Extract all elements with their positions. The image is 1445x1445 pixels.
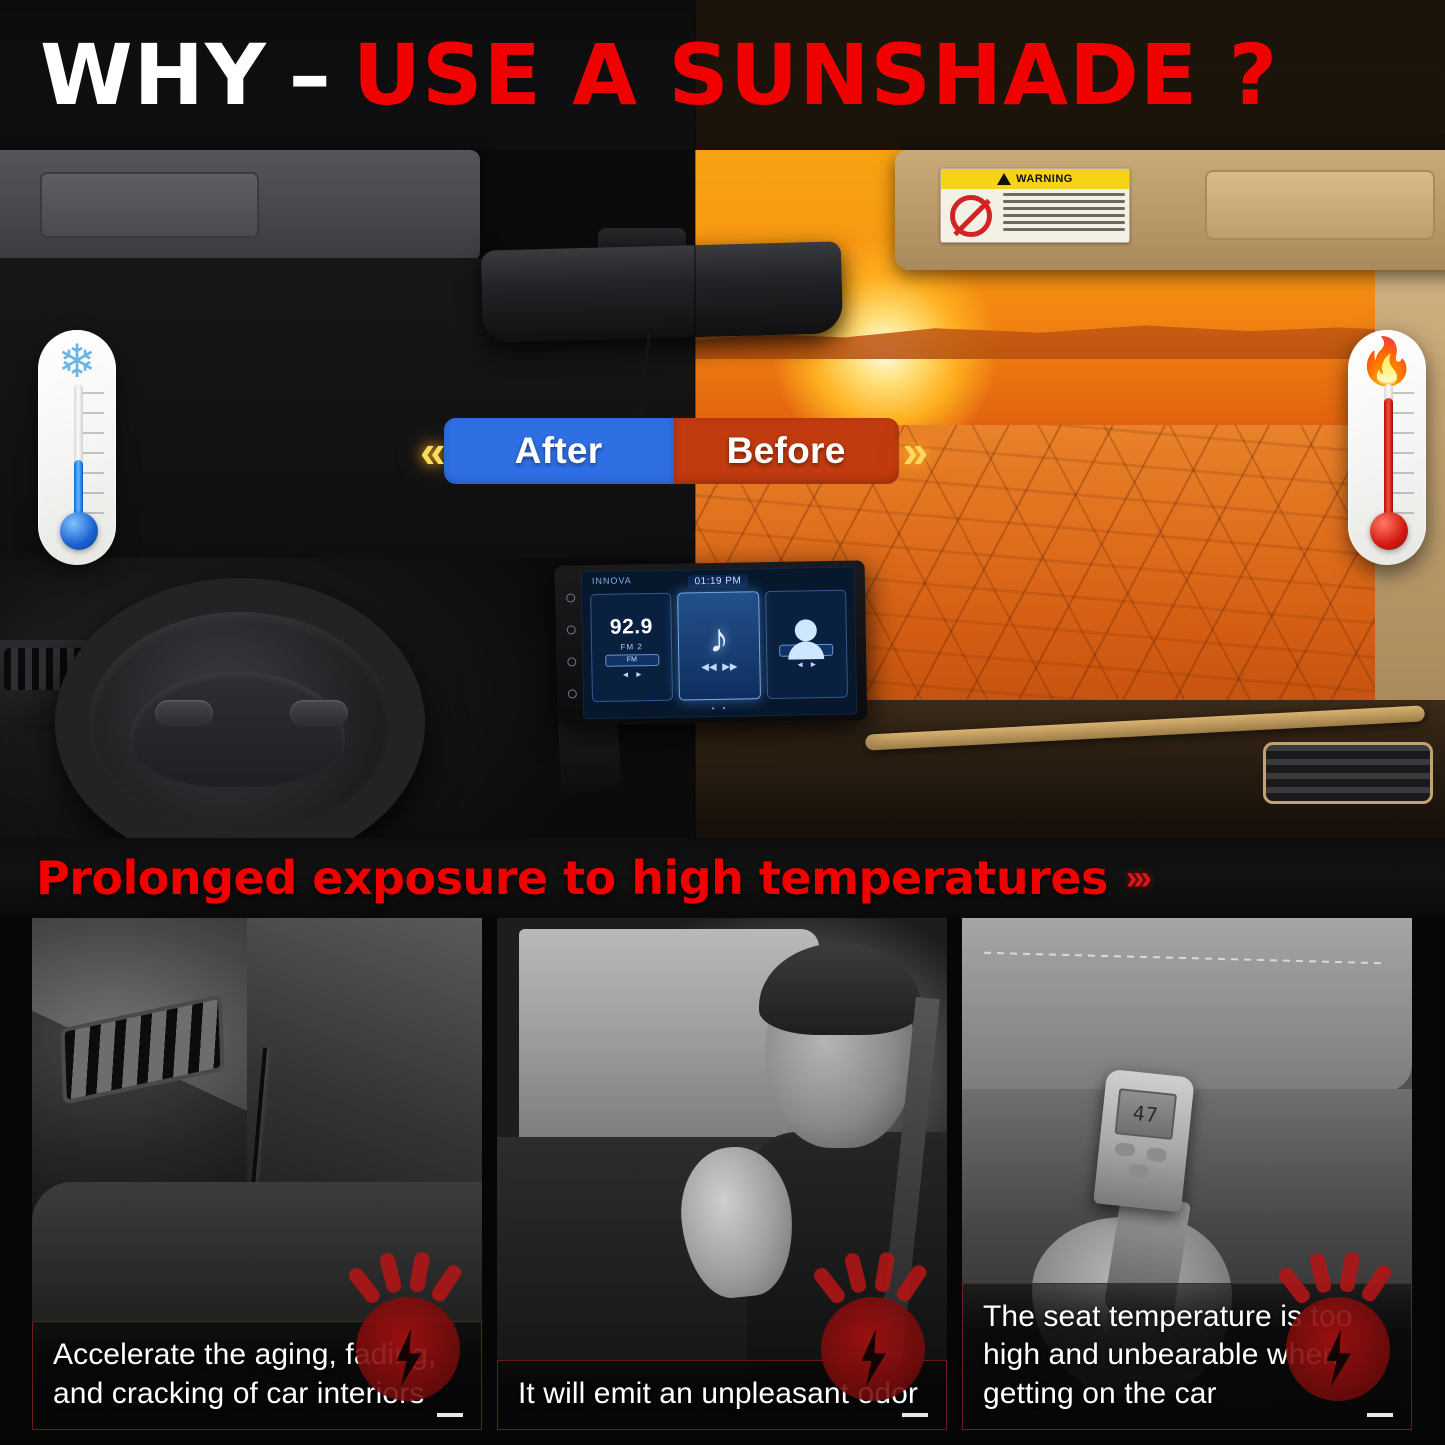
headline-banner: WHY – USE A SUNSHADE ? [0, 0, 1445, 150]
panel-seat-temperature: 47 The seat temperature is too high and … [962, 917, 1412, 1430]
panel-caption-text: The seat temperature is too high and unb… [983, 1298, 1391, 1413]
headline-white-text: WHY [40, 26, 267, 124]
radio-preset-pill[interactable]: FM [605, 653, 659, 666]
cold-thermometer: ❄ [38, 330, 116, 565]
before-after-toggle: « After Before » [420, 418, 922, 484]
visor-pocket [1205, 170, 1435, 240]
before-badge[interactable]: Before [674, 418, 899, 484]
after-badge[interactable]: After [444, 418, 674, 484]
radio-tile[interactable]: 92.9 FM 2 FM ◂ ▸ [590, 593, 673, 702]
volume-button-icon[interactable] [567, 657, 576, 666]
air-vent-hot-icon [1263, 742, 1433, 804]
page-indicator-dots: • • [584, 701, 856, 715]
radio-band-label: FM 2 [621, 642, 643, 651]
sun-visor-hot: WARNING [895, 150, 1445, 270]
airbag-warning-label: WARNING [940, 168, 1130, 243]
no-child-seat-icon [941, 189, 1003, 243]
clock-display: 01:19 PM [687, 574, 748, 588]
hot-thermometer: 🔥 [1348, 330, 1426, 565]
steering-button-right [290, 700, 348, 726]
phone-nav-arrows[interactable]: ◂ ▸ [797, 659, 816, 670]
before-after-hero: WARNING [0, 0, 1445, 840]
head-unit-side-buttons[interactable] [563, 581, 579, 709]
warning-label-text: WARNING [1016, 173, 1073, 185]
head-unit-stand [558, 718, 622, 801]
panel-caption-box: The seat temperature is too high and unb… [962, 1283, 1412, 1430]
man-covering-nose-photo [497, 917, 947, 1430]
panel-unpleasant-odor: It will emit an unpleasant odor [497, 917, 947, 1430]
caption-underscore [437, 1413, 463, 1417]
thermometer-bulb-cold [60, 512, 98, 550]
thermometer-bulb-hot [1370, 512, 1408, 550]
rear-view-mirror [481, 241, 843, 342]
phone-tile[interactable]: ☎ ◂ ▸ [765, 590, 848, 699]
dash-vent-icon [60, 994, 224, 1104]
tagline-text: Prolonged exposure to high temperatures [36, 851, 1108, 905]
consequence-panels: Accelerate the aging, fading, and cracki… [0, 917, 1445, 1445]
warning-label-body [941, 189, 1129, 243]
left-chevrons-icon: « [420, 428, 440, 474]
head-unit-screen[interactable]: INNOVA 01:19 PM 92.9 FM 2 FM ◂ ▸ ♪ ◀◀ ▶▶ [581, 566, 858, 719]
panel-caption-box: It will emit an unpleasant odor [497, 1360, 947, 1430]
tagline-chevrons-icon: ››› [1126, 859, 1148, 898]
measured-temperature: 47 [1132, 1101, 1160, 1128]
phone-contact-icon [795, 619, 817, 641]
panel-caption-text: Accelerate the aging, fading, and cracki… [53, 1336, 461, 1413]
seat-upper [962, 917, 1412, 1092]
tagline-band: Prolonged exposure to high temperatures … [0, 838, 1445, 918]
sunshade-marketing-poster: WARNING [0, 0, 1445, 1445]
infrared-thermometer-icon: 47 [1093, 1069, 1195, 1212]
thermometer-lcd: 47 [1115, 1088, 1177, 1140]
warning-label-header: WARNING [941, 169, 1129, 189]
music-note-icon: ♪ [709, 619, 730, 659]
panel-caption-text: It will emit an unpleasant odor [518, 1375, 926, 1413]
caption-underscore [1367, 1413, 1393, 1417]
snowflake-icon: ❄ [38, 338, 116, 384]
warning-triangle-icon [997, 173, 1011, 185]
seat-stitching [984, 952, 1384, 964]
menu-button-icon[interactable] [567, 689, 576, 698]
panel-interior-aging: Accelerate the aging, fading, and cracki… [32, 917, 482, 1430]
caption-underscore [902, 1413, 928, 1417]
power-button-icon[interactable] [566, 593, 575, 602]
panel-caption-box: Accelerate the aging, fading, and cracki… [32, 1321, 482, 1430]
flame-icon: 🔥 [1348, 338, 1426, 384]
infotainment-head-unit[interactable]: INNOVA 01:19 PM 92.9 FM 2 FM ◂ ▸ ♪ ◀◀ ▶▶ [555, 560, 868, 725]
thermometer-buttons [1112, 1142, 1171, 1184]
head-unit-tiles: 92.9 FM 2 FM ◂ ▸ ♪ ◀◀ ▶▶ ☎ ◂ ▸ [590, 590, 848, 702]
headline-red-text: USE A SUNSHADE ? [353, 26, 1278, 124]
media-tile[interactable]: ♪ ◀◀ ▶▶ [677, 591, 760, 700]
warning-label-fineprint [1003, 189, 1129, 243]
headline-dash: – [289, 26, 331, 124]
steering-button-left [155, 700, 213, 726]
media-transport-controls[interactable]: ◀◀ ▶▶ [701, 662, 738, 674]
home-button-icon[interactable] [566, 625, 575, 634]
sun-visor-cold [0, 150, 480, 265]
right-chevrons-icon: » [903, 428, 923, 474]
radio-seek-arrows[interactable]: ◂ ▸ [623, 669, 642, 680]
radio-frequency: 92.9 [610, 615, 653, 640]
head-unit-statusbar: 01:19 PM [582, 570, 854, 591]
